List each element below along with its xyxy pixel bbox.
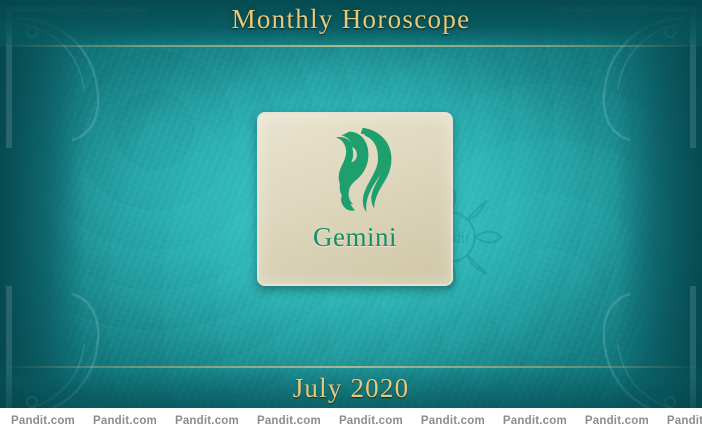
- watermark-track: Pandit.comPandit.comPandit.comPandit.com…: [0, 415, 702, 427]
- watermark-item: Pandit.com: [166, 415, 248, 427]
- watermark-item: Pandit.com: [330, 415, 412, 427]
- zodiac-card-content: Gemini: [259, 114, 451, 284]
- zodiac-sign-name: Gemini: [313, 222, 397, 253]
- watermark-item: Pandit.com: [84, 415, 166, 427]
- watermark-item: Pandit.com: [494, 415, 576, 427]
- gemini-twins-face-icon: [307, 124, 403, 216]
- page-title: Monthly Horoscope: [0, 4, 702, 35]
- watermark-item: Pandit.com: [412, 415, 494, 427]
- zodiac-sign-card: Gemini: [257, 112, 453, 286]
- watermark-strip: Pandit.comPandit.comPandit.comPandit.com…: [0, 408, 702, 434]
- horoscope-date: July 2020: [0, 373, 702, 404]
- watermark-item: Pandit.com: [248, 415, 330, 427]
- watermark-item: Pandit.com: [576, 415, 658, 427]
- header-divider: [0, 45, 702, 47]
- watermark-item: Pandit.com: [658, 415, 702, 427]
- watermark-item: Pandit.com: [2, 415, 84, 427]
- monthly-horoscope-banner: Monthly Horoscope pandit: [0, 0, 702, 434]
